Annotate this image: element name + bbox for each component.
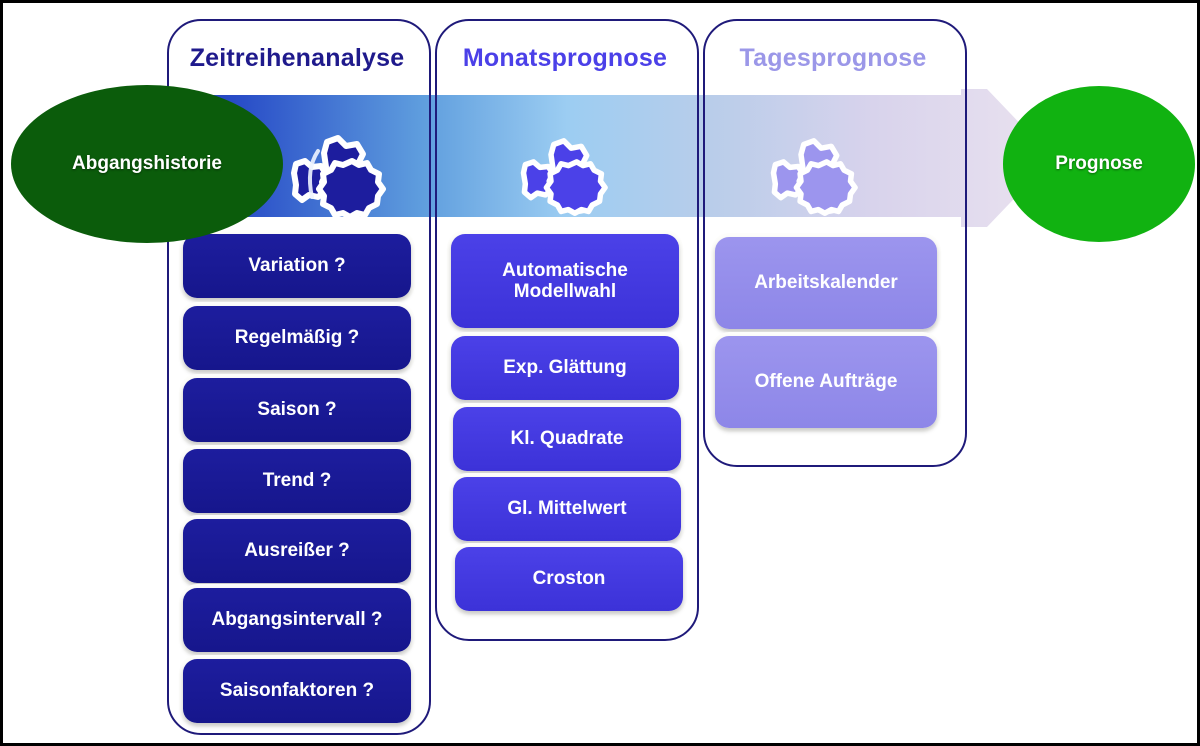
item-ausreisser[interactable]: Ausreißer ?	[183, 519, 411, 583]
item-offene-auftraege[interactable]: Offene Aufträge	[715, 336, 937, 428]
item-variation[interactable]: Variation ?	[183, 234, 411, 298]
item-label: Croston	[533, 568, 606, 589]
item-regelmaessig[interactable]: Regelmäßig ?	[183, 306, 411, 370]
item-abgangsintervall[interactable]: Abgangsintervall ?	[183, 588, 411, 652]
item-label: Saison ?	[257, 399, 336, 420]
column-header-zeitreihenanalyse: Zeitreihenanalyse	[167, 35, 427, 81]
item-label: Trend ?	[263, 470, 332, 491]
item-saison[interactable]: Saison ?	[183, 378, 411, 442]
item-arbeitskalender[interactable]: Arbeitskalender	[715, 237, 937, 329]
diagram-canvas: Zeitreihenanalyse Monatsprognose Tagespr…	[0, 0, 1200, 746]
end-node-label: Prognose	[1055, 153, 1143, 175]
item-label: Kl. Quadrate	[511, 428, 624, 449]
item-label: Regelmäßig ?	[235, 327, 360, 348]
item-label: Saisonfaktoren ?	[220, 680, 374, 701]
item-gl-mittelwert[interactable]: Gl. Mittelwert	[453, 477, 681, 541]
item-label: Gl. Mittelwert	[507, 498, 626, 519]
start-node-abgangshistorie[interactable]: Abgangshistorie	[11, 85, 283, 243]
column-header-label: Monatsprognose	[463, 44, 667, 73]
item-exp-glaettung[interactable]: Exp. Glättung	[451, 336, 679, 400]
item-label: Exp. Glättung	[503, 357, 627, 378]
item-automatische-modellwahl[interactable]: Automatische Modellwahl	[451, 234, 679, 328]
gears-icon-tagesprognose	[768, 103, 878, 219]
item-label: Offene Aufträge	[755, 371, 898, 392]
item-label: Abgangsintervall ?	[211, 609, 382, 630]
item-label: Ausreißer ?	[244, 540, 350, 561]
start-node-label: Abgangshistorie	[72, 153, 222, 175]
column-header-monatsprognose: Monatsprognose	[435, 35, 695, 81]
item-label: Variation ?	[248, 255, 345, 276]
item-kl-quadrate[interactable]: Kl. Quadrate	[453, 407, 681, 471]
item-label: Arbeitskalender	[754, 272, 898, 293]
gears-icon-zeitreihenanalyse	[288, 99, 408, 221]
item-saisonfaktoren[interactable]: Saisonfaktoren ?	[183, 659, 411, 723]
column-header-label: Tagesprognose	[740, 44, 927, 73]
column-header-label: Zeitreihenanalyse	[190, 44, 405, 73]
item-trend[interactable]: Trend ?	[183, 449, 411, 513]
gears-icon-monatsprognose	[518, 103, 628, 219]
end-node-prognose[interactable]: Prognose	[1003, 86, 1195, 242]
item-croston[interactable]: Croston	[455, 547, 683, 611]
item-label: Automatische Modellwahl	[459, 260, 671, 303]
column-header-tagesprognose: Tagesprognose	[703, 35, 963, 81]
